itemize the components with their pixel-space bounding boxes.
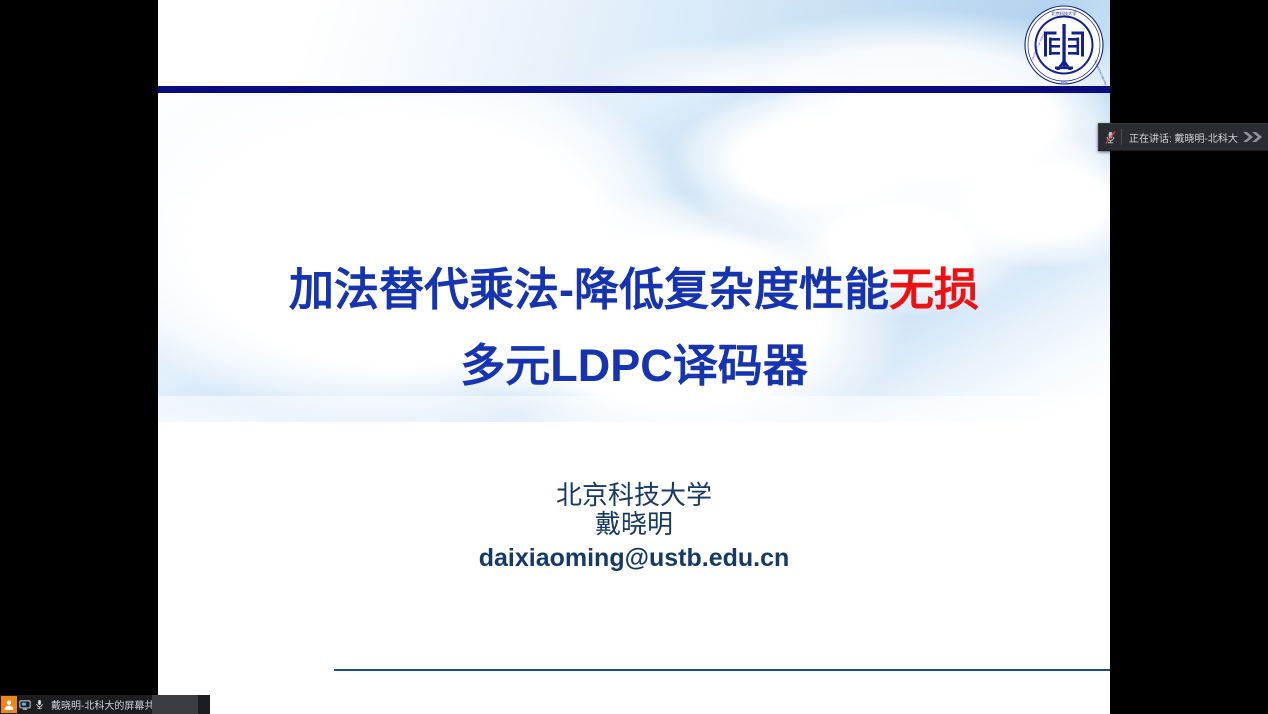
double-chevron-right-icon[interactable] bbox=[1238, 123, 1268, 151]
screen-share-viewer: 北京科技大学 · 1952 · UNIVERSITY OF SCIENCE TE… bbox=[0, 0, 1268, 714]
microphone-muted-icon[interactable] bbox=[1099, 123, 1121, 151]
slide-footer-rule bbox=[334, 669, 1110, 671]
meeting-strip-tail bbox=[152, 695, 198, 714]
slide-title-line-2: 多元LDPC译码器 bbox=[158, 328, 1110, 404]
slide-title-line-1-accent: 无损 bbox=[889, 264, 979, 315]
slide-author-name: 戴晓明 bbox=[158, 510, 1110, 539]
meeting-strip-tail-end bbox=[198, 695, 210, 714]
shared-slide[interactable]: 北京科技大学 · 1952 · UNIVERSITY OF SCIENCE TE… bbox=[158, 0, 1110, 714]
slide-header-rule bbox=[158, 86, 1110, 93]
svg-text:· 1952 ·: · 1952 · bbox=[1059, 80, 1070, 84]
slide-title: 加法替代乘法-降低复杂度性能无损 多元LDPC译码器 bbox=[158, 252, 1110, 404]
slide-affiliation: 北京科技大学 bbox=[158, 481, 1110, 510]
slide-sky-background bbox=[158, 0, 1110, 87]
screen-share-icon[interactable] bbox=[17, 696, 32, 713]
slide-author-block: 北京科技大学 戴晓明 daixiaoming@ustb.edu.cn bbox=[158, 481, 1110, 575]
active-speaker-label: 正在讲话: 戴晓明-北科大; bbox=[1122, 130, 1238, 145]
slide-author-email: daixiaoming@ustb.edu.cn bbox=[158, 541, 1110, 575]
slide-title-line-1-main: 加法替代乘法-降低复杂度性能 bbox=[289, 264, 889, 315]
svg-text:TECHNOLOGY BEIJING: TECHNOLOGY BEIJING bbox=[1093, 59, 1106, 86]
slide-title-line-1: 加法替代乘法-降低复杂度性能无损 bbox=[158, 252, 1110, 328]
microphone-icon[interactable] bbox=[32, 696, 47, 713]
meeting-status-strip[interactable]: 戴晓明-北科大的屏幕共享 bbox=[0, 695, 174, 714]
active-speaker-pill[interactable]: 正在讲话: 戴晓明-北科大; bbox=[1098, 123, 1268, 151]
svg-text:北京科技大学: 北京科技大学 bbox=[1051, 10, 1076, 17]
ustb-university-emblem-icon: 北京科技大学 · 1952 · UNIVERSITY OF SCIENCE TE… bbox=[1022, 4, 1106, 86]
participants-icon[interactable] bbox=[1, 696, 17, 713]
